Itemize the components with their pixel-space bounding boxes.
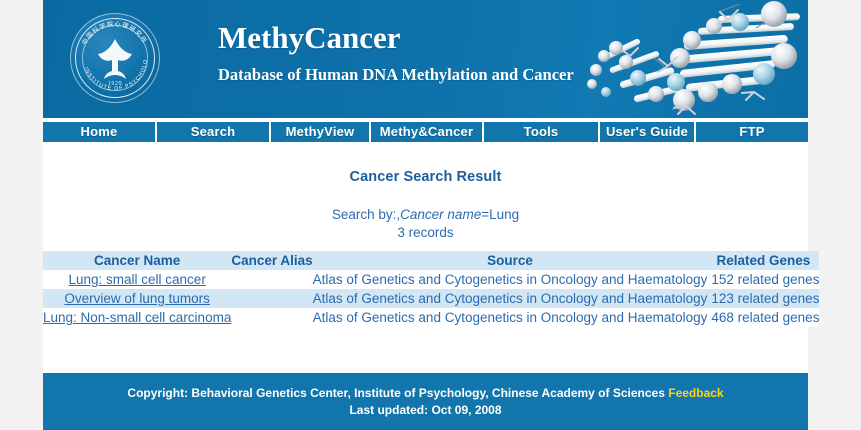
- cell-source: Atlas of Genetics and Cytogenetics in On…: [313, 308, 708, 327]
- institute-logo: 中国科学院心理研究所 INSTITUTE OF PSYCHOLOGY,CAS 1…: [64, 9, 162, 109]
- site-banner: 中国科学院心理研究所 INSTITUTE OF PSYCHOLOGY,CAS 1…: [43, 0, 808, 118]
- site-footer: Copyright: Behavioral Genetics Center, I…: [43, 373, 808, 430]
- cell-source: Atlas of Genetics and Cytogenetics in On…: [313, 270, 708, 289]
- cell-cancer-alias: [231, 308, 312, 327]
- cancer-name-link[interactable]: Overview of lung tumors: [64, 291, 210, 306]
- nav-item-tools[interactable]: Tools: [484, 122, 598, 142]
- column-header-cancer-alias: Cancer Alias: [231, 251, 312, 270]
- cell-cancer-alias: [231, 289, 312, 308]
- results-table: Cancer Name Cancer Alias Source Related …: [43, 251, 819, 327]
- site-subtitle: Database of Human DNA Methylation and Ca…: [218, 64, 574, 86]
- table-header-row: Cancer Name Cancer Alias Source Related …: [43, 251, 819, 270]
- feedback-link[interactable]: Feedback: [668, 386, 723, 400]
- table-row: Overview of lung tumors Atlas of Genetic…: [43, 289, 819, 308]
- logo-bird-icon: 中国科学院心理研究所 INSTITUTE OF PSYCHOLOGY,CAS: [70, 13, 160, 103]
- brand-block: MethyCancer Database of Human DNA Methyl…: [218, 20, 574, 86]
- nav-item-home[interactable]: Home: [43, 122, 155, 142]
- search-by-prefix: Search by:,: [332, 207, 400, 222]
- site-title: MethyCancer: [218, 20, 574, 56]
- nav-item-users-guide[interactable]: User's Guide: [600, 122, 694, 142]
- cell-related-genes: 152 related genes: [707, 270, 819, 289]
- search-by-value: =Lung: [481, 207, 519, 222]
- table-row: Lung: Non-small cell carcinoma Atlas of …: [43, 308, 819, 327]
- dna-helix-icon: [568, 0, 808, 118]
- main-content: Cancer Search Result Search by:,Cancer n…: [43, 142, 808, 393]
- cell-related-genes: 123 related genes: [707, 289, 819, 308]
- cancer-name-link[interactable]: Lung: small cell cancer: [69, 272, 206, 287]
- nav-item-ftp[interactable]: FTP: [696, 122, 808, 142]
- footer-copyright-line: Copyright: Behavioral Genetics Center, I…: [43, 385, 808, 402]
- column-header-cancer-name: Cancer Name: [43, 251, 231, 270]
- main-navigation[interactable]: Home Search MethyView Methy&Cancer Tools…: [43, 122, 808, 142]
- cell-cancer-alias: [231, 270, 312, 289]
- column-header-related-genes: Related Genes: [707, 251, 819, 270]
- search-criteria: Search by:,Cancer name=Lung: [43, 185, 808, 222]
- table-row: Lung: small cell cancer Atlas of Genetic…: [43, 270, 819, 289]
- page-container: 中国科学院心理研究所 INSTITUTE OF PSYCHOLOGY,CAS 1…: [43, 0, 808, 430]
- cell-cancer-name: Lung: small cell cancer: [43, 270, 231, 289]
- nav-item-methy-cancer[interactable]: Methy&Cancer: [371, 122, 482, 142]
- search-by-field: Cancer name: [400, 207, 481, 222]
- page-title: Cancer Search Result: [43, 142, 808, 185]
- nav-item-search[interactable]: Search: [157, 122, 269, 142]
- nav-item-methyview[interactable]: MethyView: [271, 122, 369, 142]
- footer-last-updated: Last updated: Oct 09, 2008: [43, 402, 808, 419]
- cell-related-genes: 468 related genes: [707, 308, 819, 327]
- cancer-name-link[interactable]: Lung: Non-small cell carcinoma: [43, 310, 231, 325]
- footer-copyright-text: Copyright: Behavioral Genetics Center, I…: [127, 386, 664, 400]
- cell-source: Atlas of Genetics and Cytogenetics in On…: [313, 289, 708, 308]
- record-count: 3 records: [43, 222, 808, 240]
- cell-cancer-name: Lung: Non-small cell carcinoma: [43, 308, 231, 327]
- column-header-source: Source: [313, 251, 708, 270]
- cell-cancer-name: Overview of lung tumors: [43, 289, 231, 308]
- logo-year-label: 1929: [64, 81, 166, 87]
